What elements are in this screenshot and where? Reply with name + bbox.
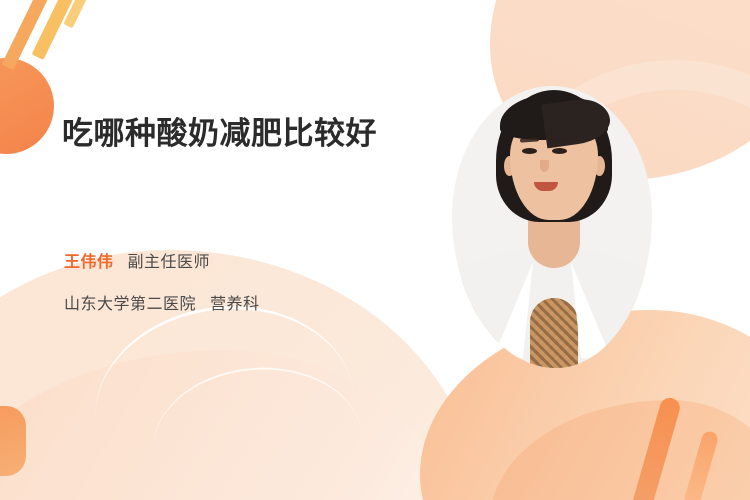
white-swoosh-line-secondary (146, 359, 363, 469)
peach-wash-bottom-left-inner (0, 350, 460, 500)
nose (540, 160, 549, 172)
diagonal-bar-3 (63, 0, 106, 28)
doctor-affiliation: 山东大学第二医院营养科 (64, 290, 260, 314)
health-video-cover-card: 吃哪种酸奶减肥比较好 王伟伟副主任医师 山东大学第二医院营养科 (0, 0, 750, 500)
orange-sliver-1 (630, 396, 682, 500)
orange-sliver-2 (677, 430, 720, 500)
doctor-portrait (452, 86, 652, 368)
diagonal-bar-2 (32, 0, 86, 60)
orange-circle-icon (0, 58, 54, 154)
peach-wash-bottom-left (0, 250, 480, 500)
eye-left (522, 148, 537, 154)
inner-shirt (530, 298, 578, 368)
card-title: 吃哪种酸奶减肥比较好 (62, 112, 422, 156)
portrait-mask (452, 86, 652, 368)
doctor-byline: 王伟伟副主任医师 (64, 248, 210, 272)
department-name: 营养科 (210, 296, 260, 313)
doctor-title: 副主任医师 (128, 254, 211, 271)
shirt-pattern (530, 298, 578, 368)
hospital-name: 山东大学第二医院 (64, 296, 196, 313)
orange-wedge-bottom-right-inner (490, 400, 750, 500)
white-swoosh-line (83, 292, 356, 446)
diagonal-bar-1 (2, 0, 56, 70)
eye-right (552, 148, 567, 154)
orange-tab-bottom-left (0, 406, 26, 476)
doctor-name: 王伟伟 (64, 254, 114, 271)
